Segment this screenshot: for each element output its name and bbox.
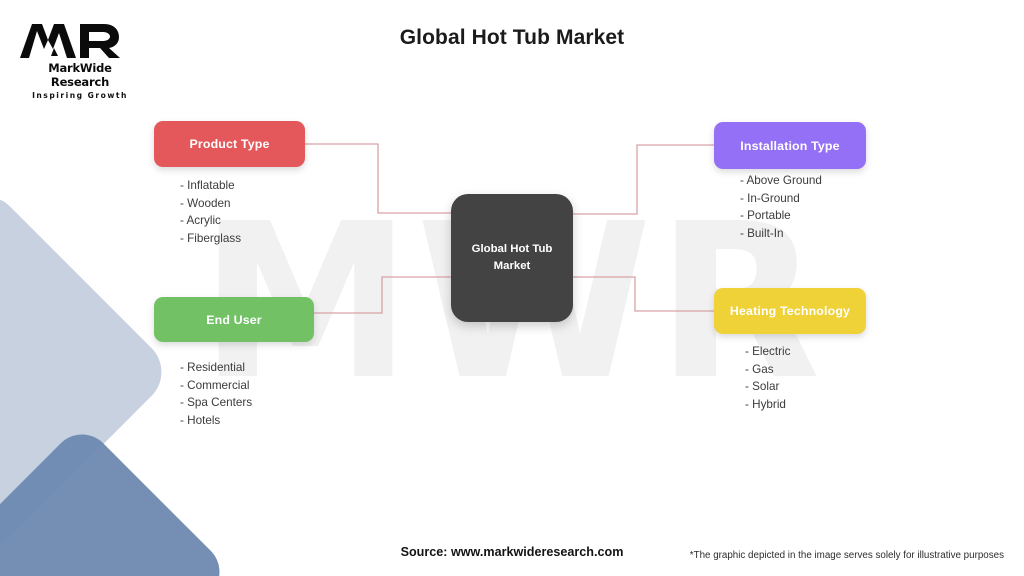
branch-node-installation-type[interactable]: Installation Type <box>714 122 866 169</box>
branch-items-product-type: - Inflatable - Wooden - Acrylic - Fiberg… <box>180 177 241 247</box>
slide-canvas: MWR MarkWide Research Inspiring Growth G… <box>0 0 1024 576</box>
branch-label-end-user: End User <box>206 313 262 327</box>
branch-label-heating-technology: Heating Technology <box>730 304 850 318</box>
list-item: - In-Ground <box>740 190 822 208</box>
disclaimer-text: *The graphic depicted in the image serve… <box>690 550 1004 561</box>
list-item: - Residential <box>180 359 252 377</box>
list-item: - Acrylic <box>180 212 241 230</box>
list-item: - Hotels <box>180 412 252 430</box>
branch-node-product-type[interactable]: Product Type <box>154 121 305 167</box>
branch-label-installation-type: Installation Type <box>740 139 839 153</box>
list-item: - Gas <box>745 361 790 379</box>
center-node-label-line1: Global Hot Tub <box>472 243 553 255</box>
connector-heating-technology <box>573 277 714 311</box>
list-item: - Inflatable <box>180 177 241 195</box>
center-node-label: Global Hot Tub Market <box>472 241 553 274</box>
list-item: - Wooden <box>180 195 241 213</box>
branch-label-product-type: Product Type <box>189 137 269 151</box>
connector-end-user <box>314 277 451 313</box>
connector-installation-type <box>573 145 714 214</box>
branch-items-heating-technology: - Electric - Gas - Solar - Hybrid <box>745 343 790 413</box>
branch-node-heating-technology[interactable]: Heating Technology <box>714 288 866 334</box>
list-item: - Electric <box>745 343 790 361</box>
list-item: - Solar <box>745 378 790 396</box>
branch-node-end-user[interactable]: End User <box>154 297 314 342</box>
center-node-label-line2: Market <box>494 260 531 272</box>
list-item: - Hybrid <box>745 396 790 414</box>
list-item: - Commercial <box>180 377 252 395</box>
list-item: - Above Ground <box>740 172 822 190</box>
branch-items-installation-type: - Above Ground - In-Ground - Portable - … <box>740 172 822 242</box>
center-node[interactable]: Global Hot Tub Market <box>451 194 573 322</box>
list-item: - Built-In <box>740 225 822 243</box>
connector-product-type <box>305 144 451 213</box>
branch-items-end-user: - Residential - Commercial - Spa Centers… <box>180 359 252 429</box>
list-item: - Portable <box>740 207 822 225</box>
list-item: - Spa Centers <box>180 394 252 412</box>
list-item: - Fiberglass <box>180 230 241 248</box>
